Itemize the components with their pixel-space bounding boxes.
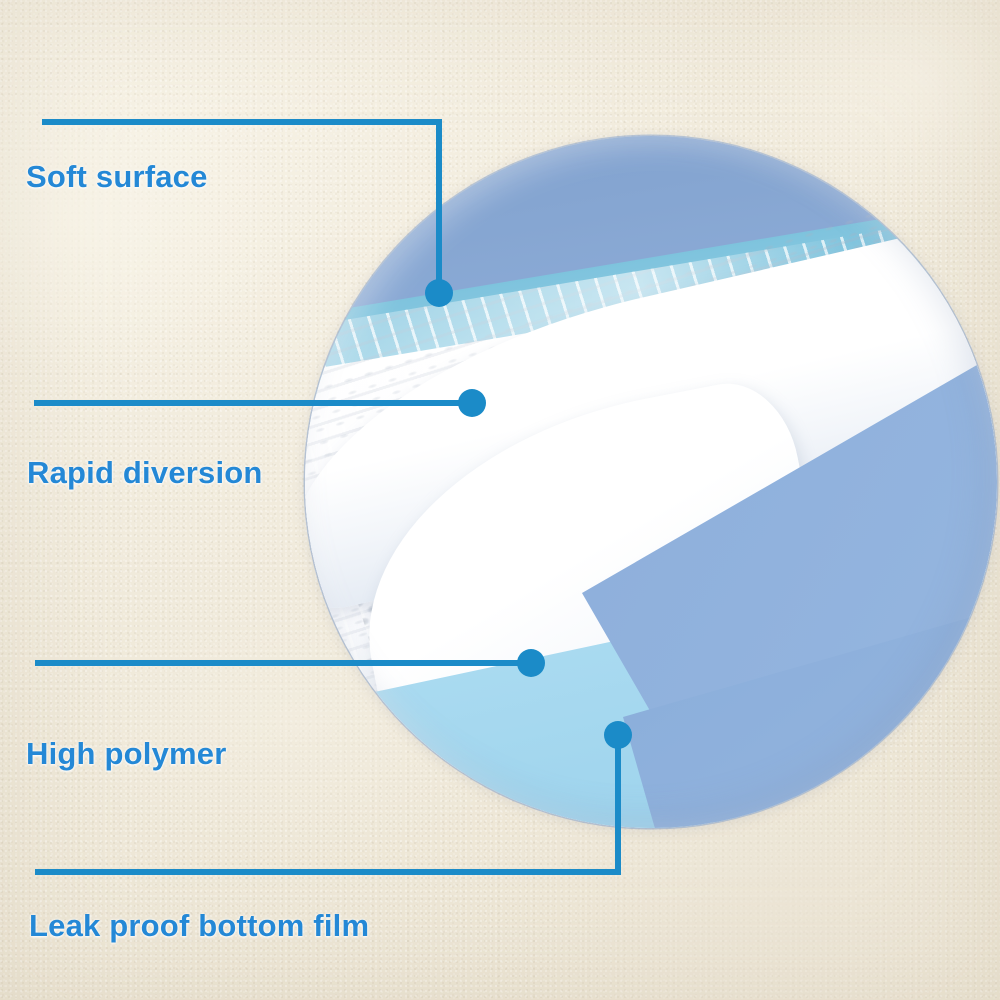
callout-label-rapid-diversion: Rapid diversion [27, 455, 263, 491]
callout-label-high-polymer: High polymer [26, 736, 226, 772]
infographic-canvas: Soft surface Rapid diversion High polyme… [0, 0, 1000, 1000]
callout-label-soft-surface: Soft surface [26, 159, 208, 195]
callout-label-leak-proof-bottom-film: Leak proof bottom film [29, 908, 369, 944]
product-cross-section-photo [305, 136, 997, 828]
